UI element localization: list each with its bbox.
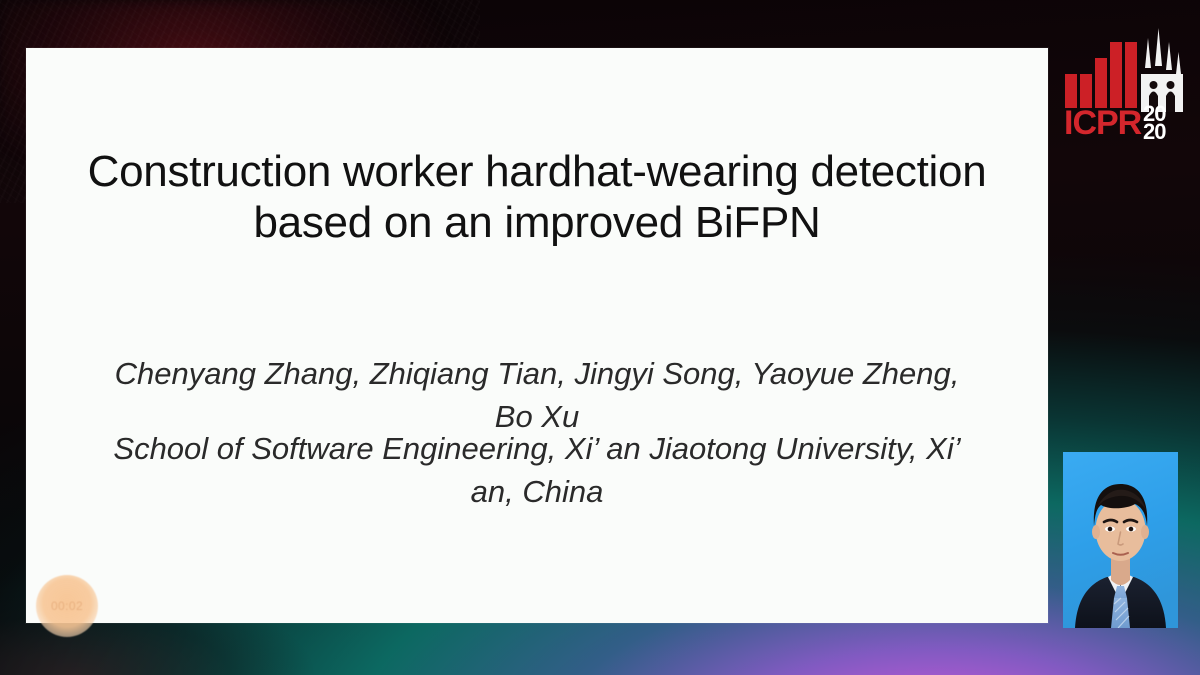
cathedral-icon [1141,28,1183,112]
presentation-video-frame: Construction worker hardhat-wearing dete… [0,0,1200,675]
logo-year-bottom: 20 [1143,119,1166,142]
speaker-video-thumbnail[interactable] [1063,452,1178,628]
logo-bars-icon [1065,42,1137,108]
playback-timer-badge[interactable]: 00:02 [36,575,98,637]
speaker-headshot-image [1063,452,1178,628]
icpr-2020-logo: ICPR 20 20 [1063,22,1187,142]
slide-authors: Chenyang Zhang, Zhiqiang Tian, Jingyi So… [96,353,978,439]
timer-elapsed-label: 00:02 [51,599,83,613]
title-slide: Construction worker hardhat-wearing dete… [26,48,1048,623]
logo-wordmark: ICPR [1064,104,1142,142]
slide-affiliation: School of Software Engineering, Xi’ an J… [96,428,978,514]
slide-title: Construction worker hardhat-wearing dete… [86,146,988,248]
